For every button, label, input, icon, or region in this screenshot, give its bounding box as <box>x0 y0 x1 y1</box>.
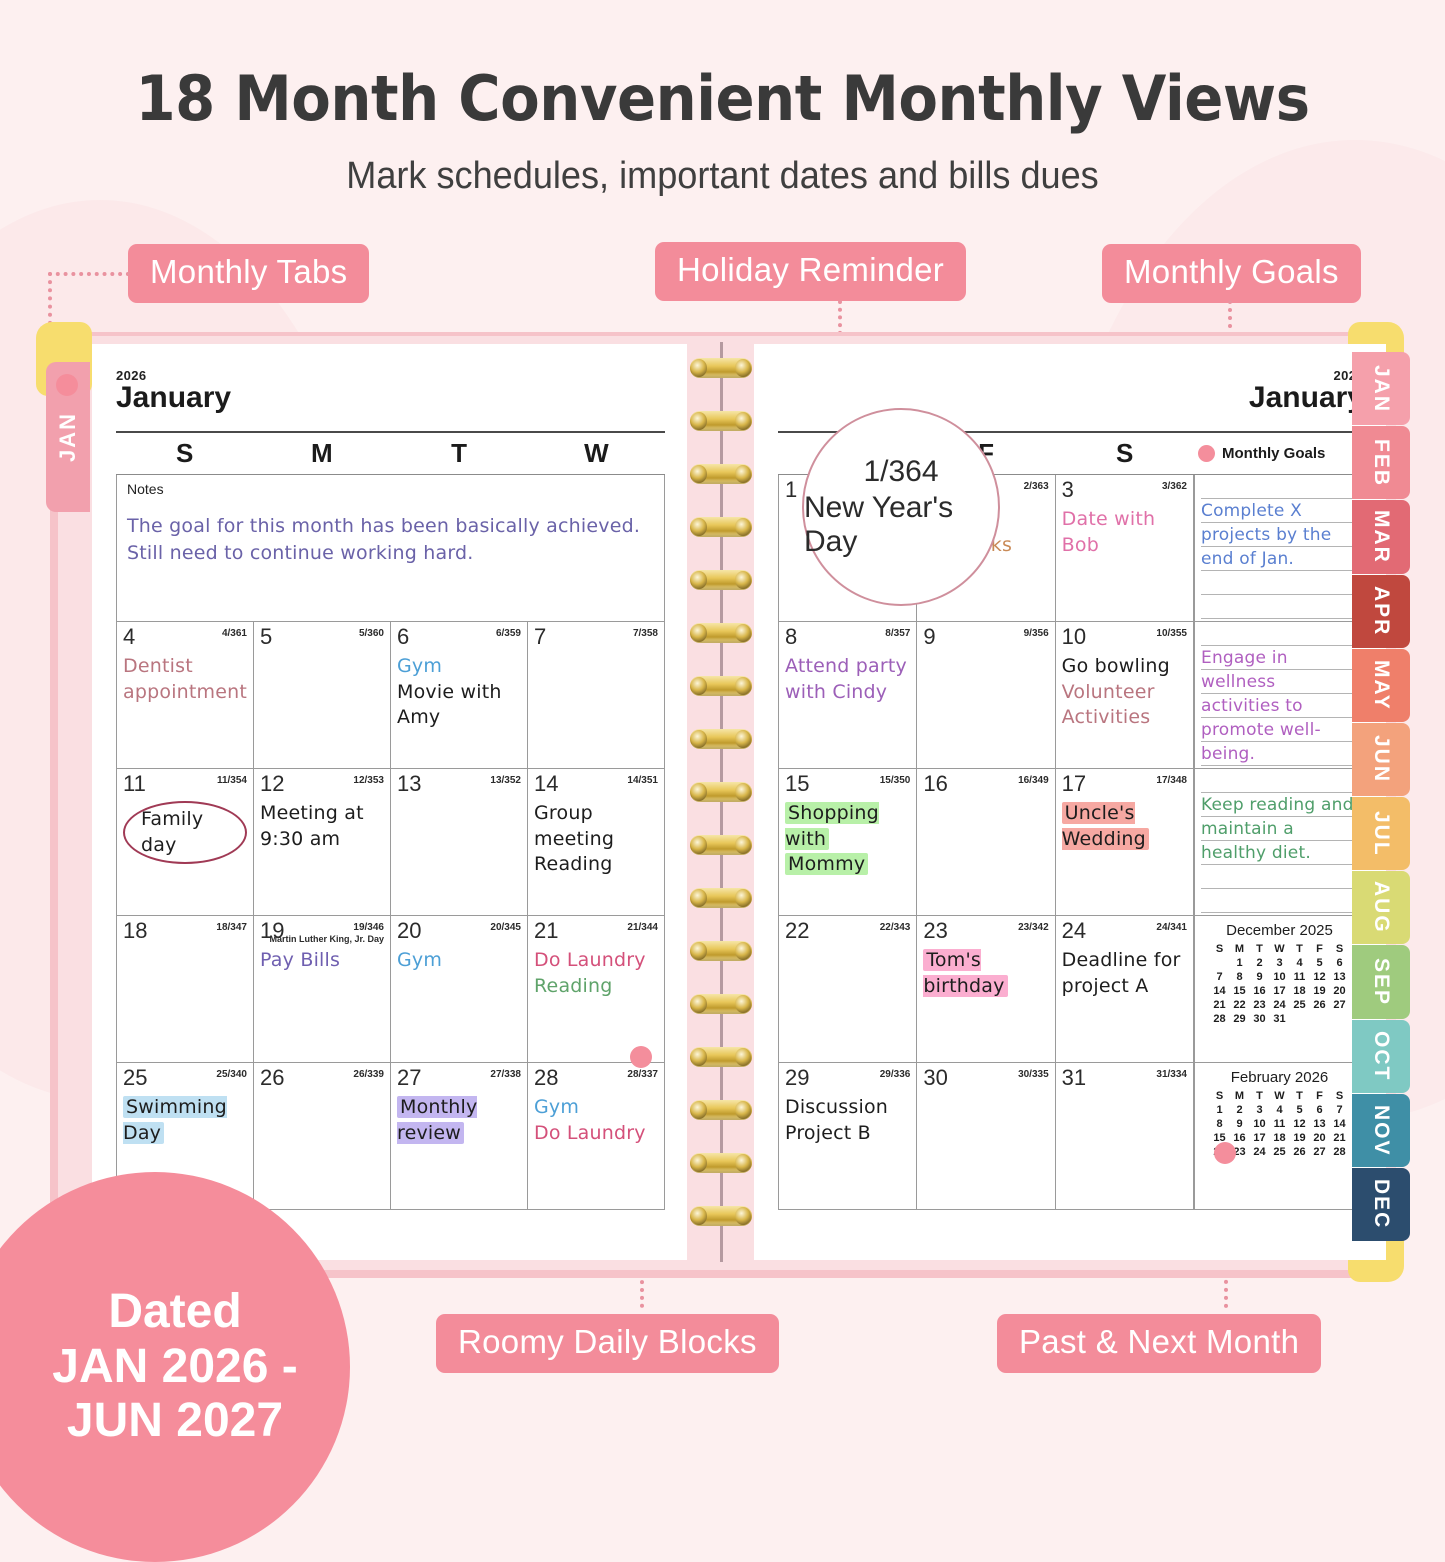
spiral-ring <box>690 1206 752 1226</box>
event-text: appointment <box>123 681 247 703</box>
event-line: Volunteer <box>1062 680 1187 706</box>
rule-line <box>1201 475 1358 499</box>
spiral-ring <box>690 1153 752 1173</box>
event-line: Uncle's Wedding <box>1062 801 1187 852</box>
day-of-year: 5/360 <box>359 628 384 639</box>
mini-day: 7 <box>1210 970 1230 984</box>
mini-day: 5 <box>1310 956 1330 970</box>
day-cell-30[interactable]: 3030/335 <box>917 1063 1055 1210</box>
dow-label-w-3: W <box>528 433 665 474</box>
day-cell-24[interactable]: 2424/341Deadline forproject A <box>1056 916 1194 1063</box>
day-events: Dentistappointment <box>123 654 247 705</box>
mini-calendar-title: December 2025 <box>1201 922 1358 939</box>
month-tab-feb[interactable]: FEB <box>1352 426 1410 499</box>
left-month-tab-label: JAN <box>55 412 81 462</box>
spiral-ring <box>690 782 752 802</box>
callout-monthly-tabs: Monthly Tabs <box>128 244 369 303</box>
month-tab-aug[interactable]: AUG <box>1352 871 1410 944</box>
event-line: Dentist <box>123 654 247 680</box>
event-line: Bob <box>1062 533 1187 559</box>
month-tab-jan[interactable]: JAN <box>1352 352 1410 425</box>
mini-day: 21 <box>1330 1131 1350 1145</box>
spiral-binding <box>688 342 754 1262</box>
event-line: Project B <box>785 1121 910 1147</box>
day-cell-10[interactable]: 1010/355Go bowlingVolunteerActivities <box>1056 622 1194 769</box>
day-of-year: 16/349 <box>1018 775 1049 786</box>
mini-day: 7 <box>1330 1103 1350 1117</box>
month-tab-label: MAR <box>1369 510 1393 564</box>
day-of-year: 4/361 <box>222 628 247 639</box>
event-text: Monthly review <box>397 1096 477 1144</box>
mini-day <box>1330 1012 1350 1026</box>
mini-dow: F <box>1310 942 1330 956</box>
rule-line <box>1201 865 1358 889</box>
mini-dow: T <box>1250 942 1270 956</box>
mini-day: 25 <box>1270 1145 1290 1159</box>
calendar-week-row: 2929/336DiscussionProject B3030/3353131/… <box>778 1063 1194 1210</box>
day-cell-28[interactable]: 2828/337GymDo Laundry <box>528 1063 665 1210</box>
day-cell-29[interactable]: 2929/336DiscussionProject B <box>778 1063 917 1210</box>
event-text: Project B <box>785 1122 871 1144</box>
spiral-ring <box>690 1100 752 1120</box>
day-cell-31[interactable]: 3131/334 <box>1056 1063 1194 1210</box>
calendar-week-row: 44/361Dentistappointment55/36066/359GymM… <box>116 622 665 769</box>
goal-text: Keep reading and maintain a healthy diet… <box>1195 793 1364 865</box>
event-line: Gym <box>397 654 521 680</box>
callout-monthly-goals: Monthly Goals <box>1102 244 1361 303</box>
rule-line <box>1201 769 1358 793</box>
event-line: 9:30 am <box>260 827 384 853</box>
day-cell-3[interactable]: 33/362Date withBob <box>1056 475 1194 622</box>
mini-day: 13 <box>1310 1117 1330 1131</box>
marker-dot-monthly-tabs <box>56 374 78 396</box>
mini-day: 30 <box>1250 1012 1270 1026</box>
mini-day: 11 <box>1290 970 1310 984</box>
event-line: Group meeting <box>534 801 658 852</box>
month-tab-label: SEP <box>1369 958 1393 1006</box>
day-events: DiscussionProject B <box>785 1095 910 1146</box>
day-of-year: 21/344 <box>627 922 658 933</box>
event-line: Gym <box>397 948 521 974</box>
event-line: Mommy <box>785 852 910 878</box>
callout-holiday-reminder: Holiday Reminder <box>655 242 966 301</box>
right-page-month: January <box>778 381 1364 415</box>
event-line: Reading <box>534 852 658 878</box>
calendar-week-row: 2222/3432323/342Tom's birthday2424/341De… <box>778 916 1194 1063</box>
mini-dow: M <box>1230 1089 1250 1103</box>
day-of-year: 9/356 <box>1024 628 1049 639</box>
day-of-year: 29/336 <box>880 1069 911 1080</box>
day-cell-18[interactable]: 1818/347 <box>116 916 254 1063</box>
event-text: Uncle's Wedding <box>1062 802 1149 850</box>
day-events: Swimming Day <box>123 1095 247 1146</box>
marker-dot-roomy <box>630 1046 652 1068</box>
page-subtitle: Mark schedules, important dates and bill… <box>36 155 1409 198</box>
event-text: Group meeting <box>534 802 614 850</box>
event-line: Deadline for <box>1062 948 1187 974</box>
mini-dow: T <box>1290 942 1310 956</box>
dated-badge-line3: JUN 2027 <box>67 1394 283 1449</box>
monthly-goals-header-label: Monthly Goals <box>1222 445 1325 462</box>
mini-day: 29 <box>1230 1012 1250 1026</box>
month-tab-label: AUG <box>1369 881 1393 934</box>
event-line: Do Laundry <box>534 1121 658 1147</box>
day-of-year: 23/342 <box>1018 922 1049 933</box>
month-tab-sep[interactable]: SEP <box>1352 945 1410 1018</box>
mini-day: 25 <box>1290 998 1310 1012</box>
mini-day: 11 <box>1270 1117 1290 1131</box>
day-of-year: 30/335 <box>1018 1069 1049 1080</box>
mini-dow: S <box>1330 942 1350 956</box>
mini-dow: S <box>1210 1089 1230 1103</box>
mini-day <box>1290 1012 1310 1026</box>
day-events: Group meetingReading <box>534 801 658 878</box>
calendar-week-row: 88/357Attend partywith Cindy99/3561010/3… <box>778 622 1194 769</box>
event-text: 9:30 am <box>260 828 340 850</box>
event-text: Tom's birthday <box>923 949 1007 997</box>
event-text: Date with <box>1062 508 1156 530</box>
goal-entry[interactable]: Keep reading and maintain a healthy diet… <box>1195 769 1364 916</box>
day-of-year: 8/357 <box>885 628 910 639</box>
day-of-year: 3/362 <box>1162 481 1187 492</box>
mini-day: 18 <box>1270 1131 1290 1145</box>
mini-calendar: December 2025SMTWTFS12345678910111213141… <box>1195 916 1364 1063</box>
day-events: Shopping withMommy <box>785 801 910 878</box>
day-cell-15[interactable]: 1515/350Shopping withMommy <box>778 769 917 916</box>
planner-book: JAN 2026 January SMTW Notes The goal for… <box>36 322 1412 1282</box>
day-of-year: 13/352 <box>490 775 521 786</box>
event-text: Dentist <box>123 655 193 677</box>
mini-day: 9 <box>1230 1117 1250 1131</box>
holiday-magnifier: 1/364 New Year's Day <box>802 408 1000 606</box>
day-cell-23[interactable]: 2323/342Tom's birthday <box>917 916 1055 1063</box>
mini-day: 13 <box>1330 970 1350 984</box>
event-line: Monthly review <box>397 1095 521 1146</box>
spiral-ring <box>690 623 752 643</box>
notes-text: The goal for this month has been basical… <box>127 513 654 567</box>
mini-day: 14 <box>1210 984 1230 998</box>
day-events: Tom's birthday <box>923 948 1048 999</box>
event-line: Go bowling <box>1062 654 1187 680</box>
mini-day: 24 <box>1250 1145 1270 1159</box>
event-line: Gym <box>534 1095 658 1121</box>
monthly-goals-header: Monthly Goals <box>1194 433 1364 474</box>
day-of-year: 17/348 <box>1156 775 1187 786</box>
event-line: with Cindy <box>785 680 910 706</box>
day-events: Family day <box>123 801 247 864</box>
day-cell-11[interactable]: 1111/354Family day <box>116 769 254 916</box>
day-of-year: 31/334 <box>1156 1069 1187 1080</box>
month-tab-label: DEC <box>1369 1179 1393 1229</box>
month-tab-label: FEB <box>1369 439 1393 487</box>
spiral-ring <box>690 1047 752 1067</box>
day-of-year: 14/351 <box>627 775 658 786</box>
spiral-ring <box>690 835 752 855</box>
mini-day: 21 <box>1210 998 1230 1012</box>
left-calendar-grid: Notes The goal for this month has been b… <box>116 474 665 1210</box>
month-tab-label: OCT <box>1369 1031 1393 1081</box>
callout-past-next-month: Past & Next Month <box>997 1314 1321 1373</box>
day-events: Gym <box>397 948 521 974</box>
mini-day: 2 <box>1230 1103 1250 1117</box>
mini-dow: S <box>1210 942 1230 956</box>
event-text: project A <box>1062 975 1149 997</box>
spiral-ring <box>690 729 752 749</box>
day-of-year: 25/340 <box>216 1069 247 1080</box>
day-cell-4[interactable]: 44/361Dentistappointment <box>116 622 254 769</box>
spiral-ring <box>690 888 752 908</box>
mini-calendar-table: SMTWTFS123456789101112131415161718192021… <box>1210 942 1350 1026</box>
day-of-year: 2/363 <box>1024 481 1049 492</box>
day-events: Meeting at9:30 am <box>260 801 384 852</box>
day-of-year: 15/350 <box>880 775 911 786</box>
day-cell-20[interactable]: 2020/345Gym <box>391 916 528 1063</box>
magnifier-holiday-label: New Year's Day <box>804 491 998 559</box>
day-of-year: 10/355 <box>1156 628 1187 639</box>
month-tab-label: APR <box>1369 586 1393 636</box>
day-of-year: 12/353 <box>353 775 384 786</box>
day-events: Uncle's Wedding <box>1062 801 1187 852</box>
dow-label-m-1: M <box>253 433 390 474</box>
day-events: Monthly review <box>397 1095 521 1146</box>
mini-day: 26 <box>1310 998 1330 1012</box>
mini-week-row: 28293031 <box>1210 1012 1350 1026</box>
mini-day: 28 <box>1330 1145 1350 1159</box>
day-cell-13[interactable]: 1313/352 <box>391 769 528 916</box>
event-line: Family day <box>123 801 247 864</box>
goal-text: Engage in wellness activities to promote… <box>1195 646 1364 766</box>
event-text: Swimming Day <box>123 1096 227 1144</box>
mini-day: 2 <box>1250 956 1270 970</box>
event-line: Reading <box>534 974 658 1000</box>
month-tab-label: NOV <box>1369 1105 1393 1157</box>
event-line: Tom's birthday <box>923 948 1048 999</box>
mini-week-row: 891011121314 <box>1210 1117 1350 1131</box>
event-text: Volunteer <box>1062 681 1155 703</box>
calendar-week-row: 1111/354Family day1212/353Meeting at9:30… <box>116 769 665 916</box>
mini-day: 16 <box>1250 984 1270 998</box>
event-line: Meeting at <box>260 801 384 827</box>
mini-day: 4 <box>1290 956 1310 970</box>
day-of-year: 22/343 <box>880 922 911 933</box>
mini-day: 20 <box>1330 984 1350 998</box>
left-page-month: January <box>116 381 665 415</box>
day-cell-17[interactable]: 1717/348Uncle's Wedding <box>1056 769 1194 916</box>
mini-calendar: February 2026SMTWTFS12345678910111213141… <box>1195 1063 1364 1210</box>
mini-day: 1 <box>1230 956 1250 970</box>
event-text: Meeting at <box>260 802 364 824</box>
mini-day: 12 <box>1290 1117 1310 1131</box>
event-text: Do Laundry <box>534 1122 646 1144</box>
mini-dow: W <box>1270 1089 1290 1103</box>
event-line: Pay Bills <box>260 948 384 974</box>
day-cell-9[interactable]: 99/356 <box>917 622 1055 769</box>
event-text: Gym <box>397 949 442 971</box>
event-text: Gym <box>397 655 442 677</box>
event-line: Movie with Amy <box>397 680 521 731</box>
day-events: Date withBob <box>1062 507 1187 558</box>
mini-day: 16 <box>1230 1131 1250 1145</box>
mini-day: 19 <box>1290 1131 1310 1145</box>
left-dow-header: SMTW <box>116 431 665 474</box>
month-tab-label: MAY <box>1369 660 1393 711</box>
mini-dow: W <box>1270 942 1290 956</box>
day-of-year: 20/345 <box>490 922 521 933</box>
event-text: Activities <box>1062 706 1151 728</box>
event-text: Go bowling <box>1062 655 1170 677</box>
notes-block[interactable]: Notes The goal for this month has been b… <box>116 475 665 622</box>
rule-line <box>1201 571 1358 595</box>
mini-day: 31 <box>1270 1012 1290 1026</box>
event-line: project A <box>1062 974 1187 1000</box>
event-line: Date with <box>1062 507 1187 533</box>
calendar-week-row: 1515/350Shopping withMommy1616/3491717/3… <box>778 769 1194 916</box>
event-text: Discussion <box>785 1096 888 1118</box>
mini-day: 8 <box>1210 1117 1230 1131</box>
mini-day: 15 <box>1230 984 1250 998</box>
event-line: Swimming Day <box>123 1095 247 1146</box>
event-text: Reading <box>534 975 613 997</box>
event-text: Shopping with <box>785 802 879 850</box>
mini-day: 19 <box>1310 984 1330 998</box>
event-text: Do Laundry <box>534 949 646 971</box>
day-cell-8[interactable]: 88/357Attend partywith Cindy <box>778 622 917 769</box>
mini-day: 6 <box>1310 1103 1330 1117</box>
day-of-year: 26/339 <box>353 1069 384 1080</box>
month-tab-dec[interactable]: DEC <box>1352 1168 1410 1241</box>
dated-badge-line2: JAN 2026 - <box>52 1340 297 1395</box>
mini-day: 28 <box>1210 1012 1230 1026</box>
event-line: Attend party <box>785 654 910 680</box>
event-text: Reading <box>534 853 613 875</box>
spiral-ring <box>690 517 752 537</box>
day-cell-5[interactable]: 55/360 <box>254 622 391 769</box>
event-text: Family day <box>123 801 247 864</box>
day-cell-21[interactable]: 2121/344Do LaundryReading <box>528 916 665 1063</box>
day-events: Go bowlingVolunteerActivities <box>1062 654 1187 731</box>
day-cell-7[interactable]: 77/358 <box>528 622 665 769</box>
month-tab-label: JAN <box>1369 365 1393 413</box>
spiral-ring <box>690 570 752 590</box>
callout-roomy-daily-blocks: Roomy Daily Blocks <box>436 1314 779 1373</box>
mini-day: 9 <box>1250 970 1270 984</box>
event-line: Discussion <box>785 1095 910 1121</box>
mini-day: 23 <box>1250 998 1270 1012</box>
month-tab-label: JUN <box>1369 735 1393 783</box>
goal-entry[interactable]: Engage in wellness activities to promote… <box>1195 622 1364 769</box>
mini-dow: T <box>1290 1089 1310 1103</box>
day-of-year: 19/346 <box>353 922 384 933</box>
calendar-week-row: 1818/3471919/346Martin Luther King, Jr. … <box>116 916 665 1063</box>
day-of-year: 7/358 <box>633 628 658 639</box>
event-line: Shopping with <box>785 801 910 852</box>
event-text: Attend party <box>785 655 907 677</box>
month-tab-nov[interactable]: NOV <box>1352 1094 1410 1167</box>
day-cell-26[interactable]: 2626/339 <box>254 1063 391 1210</box>
dow-label-s-0: S <box>116 433 253 474</box>
page-title: 18 Month Convenient Monthly Views <box>51 62 1395 135</box>
dow-label-t-2: T <box>391 433 528 474</box>
spiral-ring <box>690 941 752 961</box>
mini-day: 18 <box>1290 984 1310 998</box>
event-text: Mommy <box>785 853 868 875</box>
mini-day: 27 <box>1310 1145 1330 1159</box>
goals-bullet-icon <box>1198 445 1215 462</box>
mini-week-row: 1234567 <box>1210 1103 1350 1117</box>
month-tab-oct[interactable]: OCT <box>1352 1020 1410 1093</box>
mini-day: 17 <box>1270 984 1290 998</box>
mini-week-row: 21222324252627 <box>1210 998 1350 1012</box>
mini-week-row: 14151617181920 <box>1210 984 1350 998</box>
rule-line <box>1201 622 1358 646</box>
day-cell-12[interactable]: 1212/353Meeting at9:30 am <box>254 769 391 916</box>
day-of-year: 18/347 <box>216 922 247 933</box>
mini-day: 27 <box>1330 998 1350 1012</box>
rule-line <box>1201 889 1358 913</box>
event-text: Deadline for <box>1062 949 1181 971</box>
day-events: Attend partywith Cindy <box>785 654 910 705</box>
dow-label-s-2: S <box>1055 433 1194 474</box>
mini-day: 6 <box>1330 956 1350 970</box>
mini-dow: M <box>1230 942 1250 956</box>
mini-dow: T <box>1250 1089 1270 1103</box>
day-events: GymDo Laundry <box>534 1095 658 1146</box>
day-cell-19[interactable]: 1919/346Martin Luther King, Jr. DayPay B… <box>254 916 391 1063</box>
leader-line-monthly-tabs-h <box>48 272 130 276</box>
rule-line <box>1201 595 1358 619</box>
mini-day: 14 <box>1330 1117 1350 1131</box>
mini-day: 22 <box>1230 998 1250 1012</box>
notes-label: Notes <box>127 481 654 497</box>
month-tab-apr[interactable]: APR <box>1352 575 1410 648</box>
spiral-ring <box>690 994 752 1014</box>
day-cell-14[interactable]: 1414/351Group meetingReading <box>528 769 665 916</box>
spiral-ring <box>690 464 752 484</box>
day-of-year: 24/341 <box>1156 922 1187 933</box>
spiral-ring <box>690 411 752 431</box>
mini-calendar-title: February 2026 <box>1201 1069 1358 1086</box>
marker-dot-pastnext <box>1214 1142 1236 1164</box>
day-cell-22[interactable]: 2222/343 <box>778 916 917 1063</box>
day-cell-27[interactable]: 2727/338Monthly review <box>391 1063 528 1210</box>
day-events: Pay Bills <box>260 948 384 974</box>
mini-day <box>1210 956 1230 970</box>
mini-day: 10 <box>1250 1117 1270 1131</box>
day-events: GymMovie with Amy <box>397 654 521 731</box>
month-tab-label: JUL <box>1369 811 1393 857</box>
day-of-year: 6/359 <box>496 628 521 639</box>
mini-day: 3 <box>1270 956 1290 970</box>
mini-day: 5 <box>1290 1103 1310 1117</box>
event-text: with Cindy <box>785 681 887 703</box>
event-text: Bob <box>1062 534 1099 556</box>
monthly-goals-panel[interactable]: Complete X projects by the end of Jan.En… <box>1194 475 1364 1210</box>
goal-entry[interactable]: Complete X projects by the end of Jan. <box>1195 475 1364 622</box>
event-text: Movie with Amy <box>397 681 502 729</box>
day-cell-6[interactable]: 66/359GymMovie with Amy <box>391 622 528 769</box>
event-line: appointment <box>123 680 247 706</box>
mini-day: 24 <box>1270 998 1290 1012</box>
mini-dow: S <box>1330 1089 1350 1103</box>
event-text: Gym <box>534 1096 579 1118</box>
mini-day: 8 <box>1230 970 1250 984</box>
day-cell-16[interactable]: 1616/349 <box>917 769 1055 916</box>
mini-day: 4 <box>1270 1103 1290 1117</box>
spiral-ring <box>690 676 752 696</box>
mini-day: 10 <box>1270 970 1290 984</box>
magnifier-fraction: 1/364 <box>863 455 938 489</box>
event-line: Do Laundry <box>534 948 658 974</box>
